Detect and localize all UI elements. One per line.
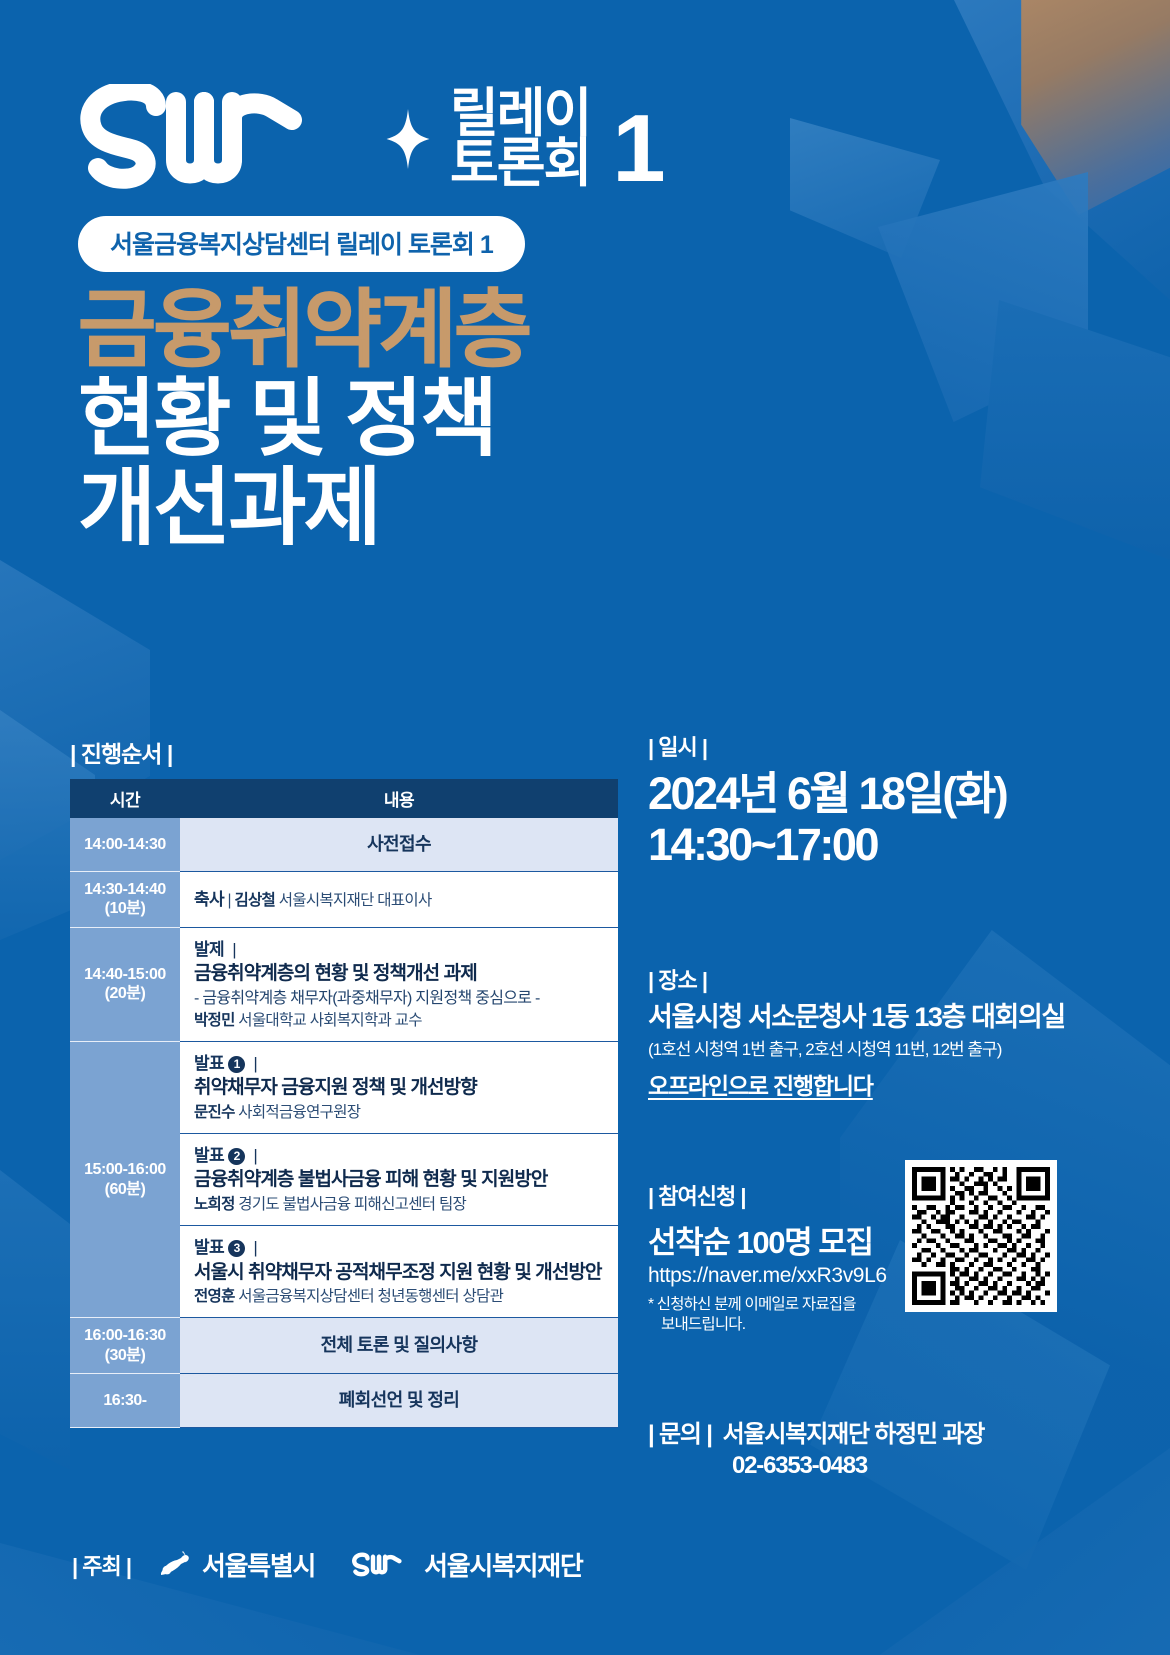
session-kicker: 발표 — [194, 1146, 224, 1165]
venue-directions: (1호선 시청역 1번 출구, 2호선 시청역 11번, 12번 출구) — [648, 1035, 1118, 1060]
info-column: | 일시 | 2024년 6월 18일(화) 14:30~17:00 | 장소 … — [648, 730, 1118, 1490]
column-header-time: 시간 — [70, 779, 180, 818]
bg-shape-top-right-1 — [870, 0, 1170, 300]
contact-line: | 문의 | 서울시복지재단 하정민 과장 02-6353-0483 — [648, 1419, 1118, 1481]
row-duration: (20분) — [105, 985, 146, 1002]
place-block: | 장소 | 서울시청 서소문청사 1동 13층 대회의실 (1호선 시청역 1… — [648, 963, 1118, 1101]
session-subtopic: - 금융취약계층 채무자(과중채무자) 지원정책 중심으로 - — [194, 988, 604, 1010]
row-time: 14:00-14:30 — [84, 836, 166, 853]
row-duration: (60분) — [105, 1181, 146, 1198]
session-kicker-row: 발제 | — [194, 938, 604, 961]
apply-note-line-2: 보내드립니다. — [648, 1315, 1118, 1335]
event-date: 2024년 6월 18일(화) — [648, 768, 1118, 819]
speaker-name: 문진수 — [194, 1104, 235, 1121]
bg-shape-top-right-2 — [930, 0, 1170, 215]
subtitle-pill: 서울금융복지상담센터 릴레이 토론회 1 — [78, 216, 525, 272]
place-label: | 장소 | — [648, 963, 1118, 995]
sparkle-icon — [386, 109, 430, 169]
series-wordmark: 릴레이 토론회 — [450, 89, 590, 189]
organizer-name: 서울특별시 — [202, 1546, 315, 1583]
session-speaker: 전영훈 서울금융복지상담센터 청년동행센터 상담관 — [194, 1286, 604, 1307]
session-topic: 금융취약계층 불법사금융 피해 현황 및 지원방안 — [194, 1167, 604, 1193]
cell-time: 14:30-14:40 (10분) — [70, 871, 180, 927]
swf-logo — [351, 1552, 417, 1578]
footer: | 주최 | 서울특별시 서울시복지재단 — [72, 1546, 582, 1583]
session-kicker-row: 발표 3 | — [194, 1236, 604, 1259]
cell-time: 15:00-16:00 (60분) — [70, 1041, 180, 1317]
speaker-name: 김상철 — [234, 892, 275, 909]
column-header-content: 내용 — [180, 779, 618, 818]
series-line-2: 토론회 — [450, 139, 590, 189]
session-badge: 2 — [228, 1148, 245, 1165]
schedule-header-row: 시간 내용 — [70, 779, 618, 818]
table-row: 16:00-16:30 (30분) 전체 토론 및 질의사항 — [70, 1318, 618, 1374]
organizer-name: 서울시복지재단 — [424, 1546, 582, 1583]
session-kicker: 축사 — [194, 890, 224, 909]
series-number: 1 — [612, 106, 665, 194]
session-kicker-row: 발표 1 | — [194, 1052, 604, 1075]
session-kicker: 발표 — [194, 1054, 224, 1073]
contact-label: | 문의 | — [648, 1421, 712, 1448]
row-duration: (10분) — [105, 900, 146, 917]
table-row: 16:30- 폐회선언 및 정리 — [70, 1374, 618, 1428]
organizer-swf: 서울시복지재단 — [351, 1546, 582, 1583]
poster-header: 릴레이 토론회 1 서울금융복지상담센터 릴레이 토론회 1 금융취약계층 현황… — [78, 84, 718, 551]
session-kicker: 발표 — [194, 1238, 224, 1257]
logo-row: 릴레이 토론회 1 — [78, 84, 718, 194]
host-label: | 주최 | — [72, 1549, 131, 1581]
row-time: 15:00-16:00 — [84, 1161, 166, 1178]
series-line-1: 릴레이 — [450, 89, 590, 139]
speaker-name: 전영훈 — [194, 1288, 235, 1305]
cell-content: 폐회선언 및 정리 — [180, 1374, 618, 1428]
contact-block: | 문의 | 서울시복지재단 하정민 과장 02-6353-0483 — [648, 1419, 1118, 1481]
qr-code[interactable] — [905, 1160, 1057, 1312]
table-row: 14:30-14:40 (10분) 축사 | 김상철 서울시복지재단 대표이사 — [70, 871, 618, 927]
schedule-table: 시간 내용 14:00-14:30 사전접수 14:30-14:40 (10분) — [70, 779, 618, 1428]
title-line-2: 현황 및 정책 — [78, 377, 718, 462]
speaker-name: 박정민 — [194, 1012, 235, 1029]
datetime-label: | 일시 | — [648, 730, 1118, 762]
bg-shape-left-3 — [0, 1170, 70, 1470]
session-line: 축사 | 김상철 서울시복지재단 대표이사 — [194, 888, 604, 911]
session-topic: 금융취약계층의 현황 및 정책개선 과제 — [194, 961, 604, 987]
cell-content: 발표 1 | 취약채무자 금융지원 정책 및 개선방향 문진수 사회적금융연구원… — [180, 1041, 618, 1133]
schedule-section: | 진행순서 | 시간 내용 14:00-14:30 사전접수 — [70, 735, 618, 1428]
speaker-name: 노희정 — [194, 1196, 235, 1213]
row-time: 14:40-15:00 — [84, 966, 166, 983]
session-topic: 취약채무자 금융지원 정책 및 개선방향 — [194, 1075, 604, 1101]
cell-content: 전체 토론 및 질의사항 — [180, 1318, 618, 1374]
page-title: 금융취약계층 현황 및 정책 개선과제 — [78, 288, 718, 551]
venue-note: 오프라인으로 진행합니다 — [648, 1067, 1118, 1101]
speaker-affiliation: 경기도 불법사금융 피해신고센터 팀장 — [238, 1196, 466, 1213]
bg-shape-top-right-4 — [980, 300, 1170, 560]
session-kicker: 발제 — [194, 940, 224, 959]
cell-content: 발표 3 | 서울시 취약채무자 공적채무조정 지원 현황 및 개선방안 전영훈… — [180, 1226, 618, 1318]
session-speaker: 노희정 경기도 불법사금융 피해신고센터 팀장 — [194, 1194, 604, 1215]
speaker-affiliation: 서울대학교 사회복지학과 교수 — [238, 1012, 422, 1029]
row-duration: (30분) — [105, 1347, 146, 1364]
session-badge: 3 — [228, 1240, 245, 1257]
cell-time: 14:40-15:00 (20분) — [70, 927, 180, 1041]
cell-content: 발표 2 | 금융취약계층 불법사금융 피해 현황 및 지원방안 노희정 경기도… — [180, 1134, 618, 1226]
bg-shape-top-right-5 — [790, 118, 940, 258]
venue-name: 서울시청 서소문청사 1동 13층 대회의실 — [648, 1001, 1118, 1033]
table-row: 14:00-14:30 사전접수 — [70, 818, 618, 871]
bg-shape-top-right-3 — [878, 172, 1088, 422]
cell-content: 발제 | 금융취약계층의 현황 및 정책개선 과제 - 금융취약계층 채무자(과… — [180, 927, 618, 1041]
table-row: 14:40-15:00 (20분) 발제 | 금융취약계층의 현황 및 정책개선… — [70, 927, 618, 1041]
title-line-3: 개선과제 — [78, 466, 718, 551]
session-badge: 1 — [228, 1056, 245, 1073]
speaker-affiliation: 서울시복지재단 대표이사 — [279, 892, 432, 909]
schedule-label: | 진행순서 | — [70, 735, 618, 769]
cell-time: 16:30- — [70, 1374, 180, 1428]
speaker-affiliation: 사회적금융연구원장 — [238, 1104, 360, 1121]
cell-content: 축사 | 김상철 서울시복지재단 대표이사 — [180, 871, 618, 927]
row-time: 16:30- — [103, 1392, 146, 1409]
row-time: 14:30-14:40 — [84, 881, 166, 898]
session-kicker-row: 발표 2 | — [194, 1144, 604, 1167]
organizer-seoul-city: 서울특별시 — [155, 1546, 315, 1583]
event-time: 14:30~17:00 — [648, 819, 1118, 870]
speaker-affiliation: 서울금융복지상담센터 청년동행센터 상담관 — [238, 1288, 503, 1305]
cell-time: 14:00-14:30 — [70, 818, 180, 871]
session-speaker: 박정민 서울대학교 사회복지학과 교수 — [194, 1010, 604, 1031]
table-row: 15:00-16:00 (60분) 발표 1 | 취약채무자 금융지원 정책 및… — [70, 1041, 618, 1133]
swf-wave-logo — [78, 84, 378, 194]
session-topic: 서울시 취약채무자 공적채무조정 지원 현황 및 개선방안 — [194, 1260, 604, 1286]
poster-root: 릴레이 토론회 1 서울금융복지상담센터 릴레이 토론회 1 금융취약계층 현황… — [0, 0, 1170, 1655]
contact-phone: 02-6353-0483 — [648, 1450, 1118, 1481]
seoul-city-logo — [155, 1547, 195, 1583]
datetime-block: | 일시 | 2024년 6월 18일(화) 14:30~17:00 — [648, 730, 1118, 871]
contact-person: 서울시복지재단 하정민 과장 — [723, 1421, 985, 1448]
session-speaker: 문진수 사회적금융연구원장 — [194, 1102, 604, 1123]
row-time: 16:00-16:30 — [84, 1327, 166, 1344]
cell-time: 16:00-16:30 (30분) — [70, 1318, 180, 1374]
cell-content: 사전접수 — [180, 818, 618, 871]
title-line-1: 금융취약계층 — [78, 288, 718, 373]
